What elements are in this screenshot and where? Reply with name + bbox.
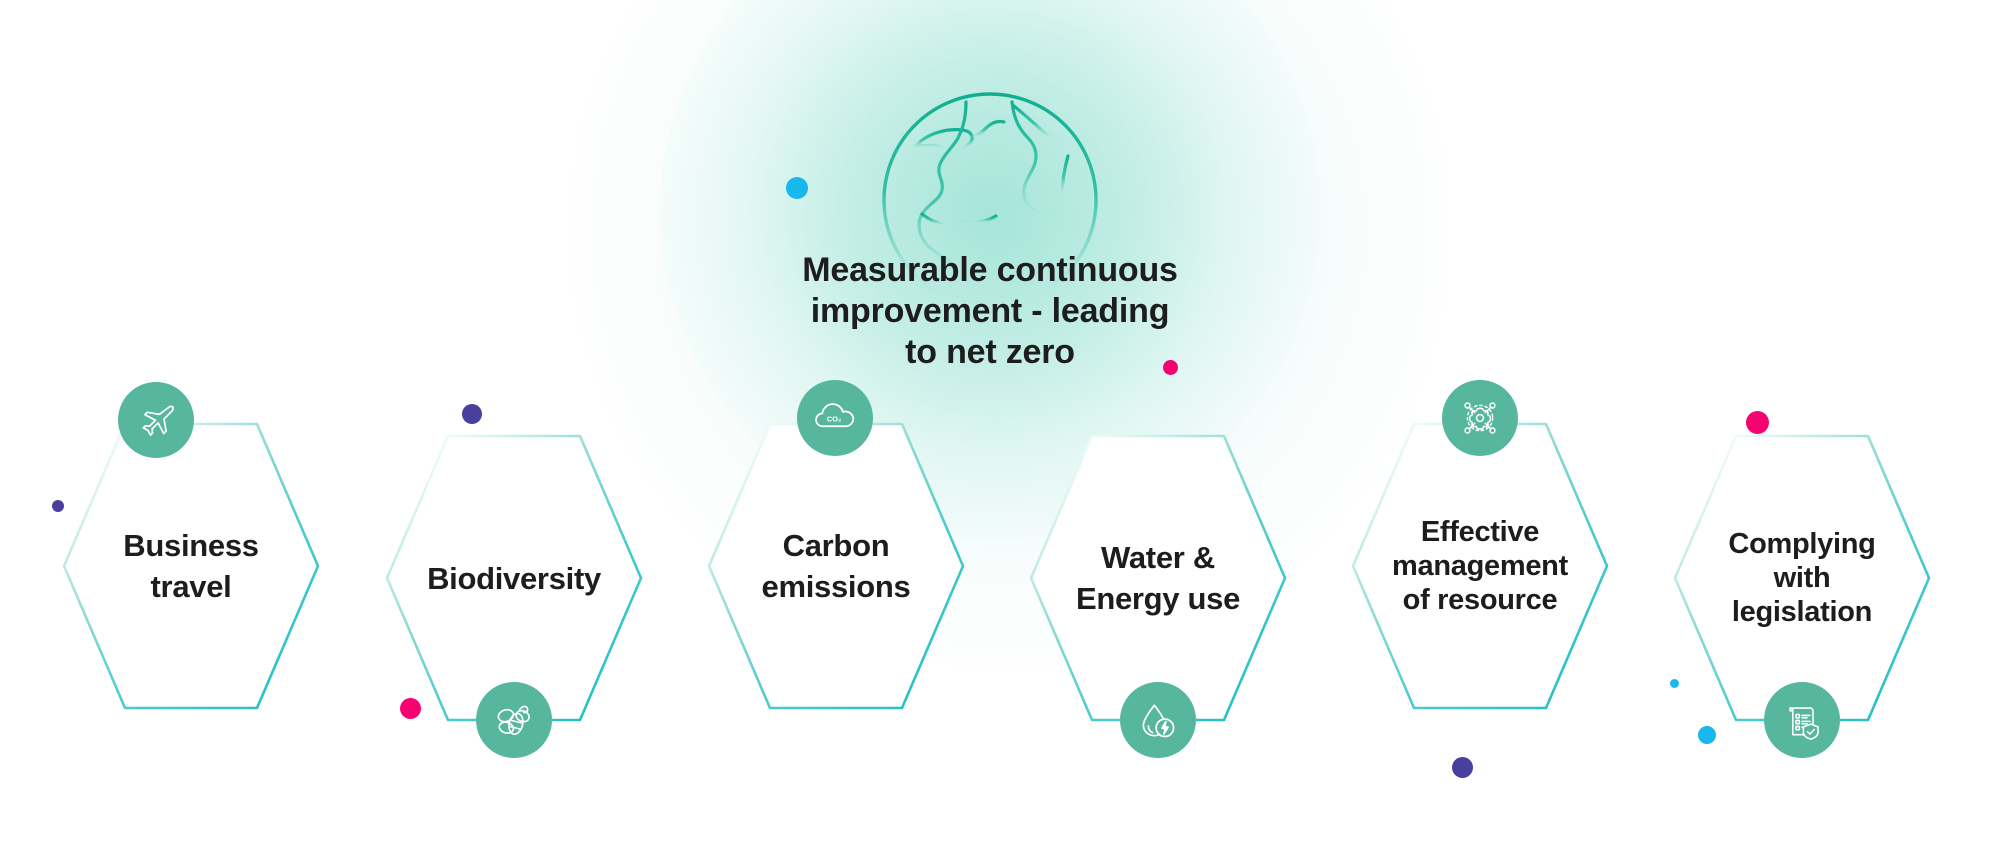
water-energy-icon bbox=[1120, 682, 1196, 758]
gear-network-icon bbox=[1442, 380, 1518, 456]
hexagon-label: Carbon emissions bbox=[705, 420, 967, 712]
hexagon-label: Effective management of resource bbox=[1349, 420, 1611, 712]
dot-cyan-legislation bbox=[1698, 726, 1716, 744]
dot-purple-resource bbox=[1452, 757, 1473, 778]
dot-cyan-small-legis bbox=[1670, 679, 1679, 688]
hexagon-effective-management-of-resource[interactable]: Effective management of resource bbox=[1349, 420, 1611, 712]
dot-pink-legislation bbox=[1746, 411, 1769, 434]
dot-pink-biodiversity bbox=[400, 698, 421, 719]
svg-text:CO₂: CO₂ bbox=[827, 415, 842, 424]
hexagon-label: Water & Energy use bbox=[1027, 432, 1289, 724]
airplane-icon bbox=[118, 382, 194, 458]
hexagon-row: Business travel Biodiversity bbox=[0, 0, 2000, 851]
hexagon-complying-with-legislation[interactable]: Complying with legislation bbox=[1671, 432, 1933, 724]
hexagon-label: Biodiversity bbox=[383, 432, 645, 724]
hexagon-label: Business travel bbox=[60, 420, 322, 712]
hexagon-carbon-emissions[interactable]: Carbon emissions bbox=[705, 420, 967, 712]
hexagon-biodiversity[interactable]: Biodiversity bbox=[383, 432, 645, 724]
hexagon-business-travel[interactable]: Business travel bbox=[60, 420, 322, 712]
compliance-document-icon bbox=[1764, 682, 1840, 758]
hexagon-label: Complying with legislation bbox=[1671, 432, 1933, 724]
dot-cyan-title bbox=[786, 177, 808, 199]
dot-pink-title bbox=[1163, 360, 1178, 375]
dot-purple-small-left bbox=[52, 500, 64, 512]
co2-cloud-icon: CO₂ bbox=[797, 380, 873, 456]
hexagon-water-energy-use[interactable]: Water & Energy use bbox=[1027, 432, 1289, 724]
bee-icon bbox=[476, 682, 552, 758]
infographic-canvas: Measurable continuous improvement - lead… bbox=[0, 0, 2000, 851]
dot-purple-biodiversity bbox=[462, 404, 482, 424]
